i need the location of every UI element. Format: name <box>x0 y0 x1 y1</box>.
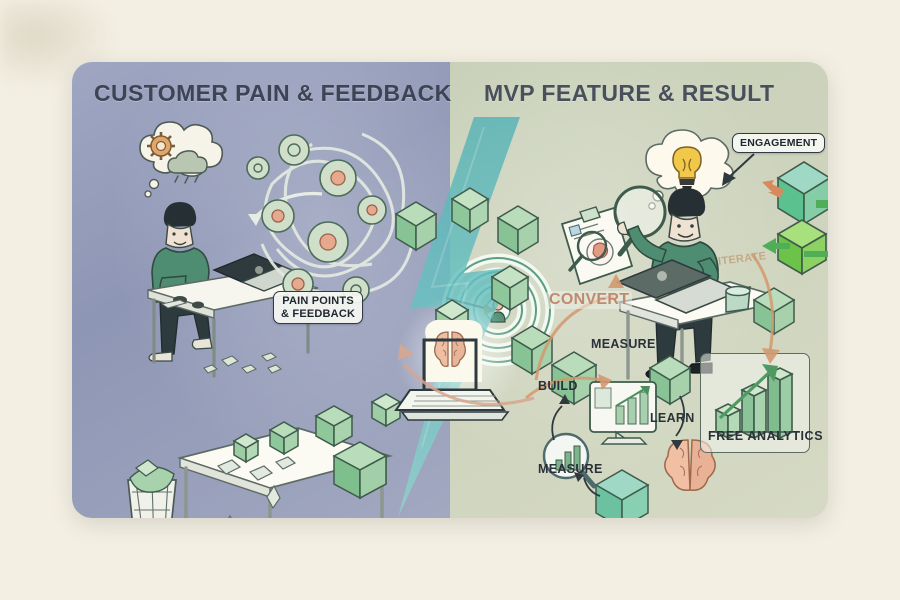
magnifier-chart-icon <box>544 434 594 486</box>
convert-label: CONVERT <box>546 291 632 309</box>
trash-bin-icon <box>128 460 176 518</box>
right-panel-title: MVP FEATURE & RESULT <box>484 80 774 107</box>
arrow-head-icon <box>398 344 414 360</box>
learn-label: LEARN <box>650 411 695 425</box>
gear-icon <box>147 132 175 160</box>
engagement-label: ENGAGEMENT <box>732 133 825 153</box>
infographic-card: CUSTOMER PAIN & FEEDBACK MVP FEATURE & R… <box>72 62 828 518</box>
build-label: BUILD <box>538 379 578 393</box>
pain-to-center-arrow <box>338 294 548 414</box>
free-analytics-label: FREE ANALYTICS <box>708 429 823 443</box>
thought-cloud-icon <box>140 122 222 197</box>
engagement-pointer-icon <box>720 154 760 188</box>
measure-bottom-label: MEASURE <box>538 462 603 476</box>
left-panel-title: CUSTOMER PAIN & FEEDBACK <box>94 80 452 107</box>
measure-top-label: MEASURE <box>591 337 656 351</box>
